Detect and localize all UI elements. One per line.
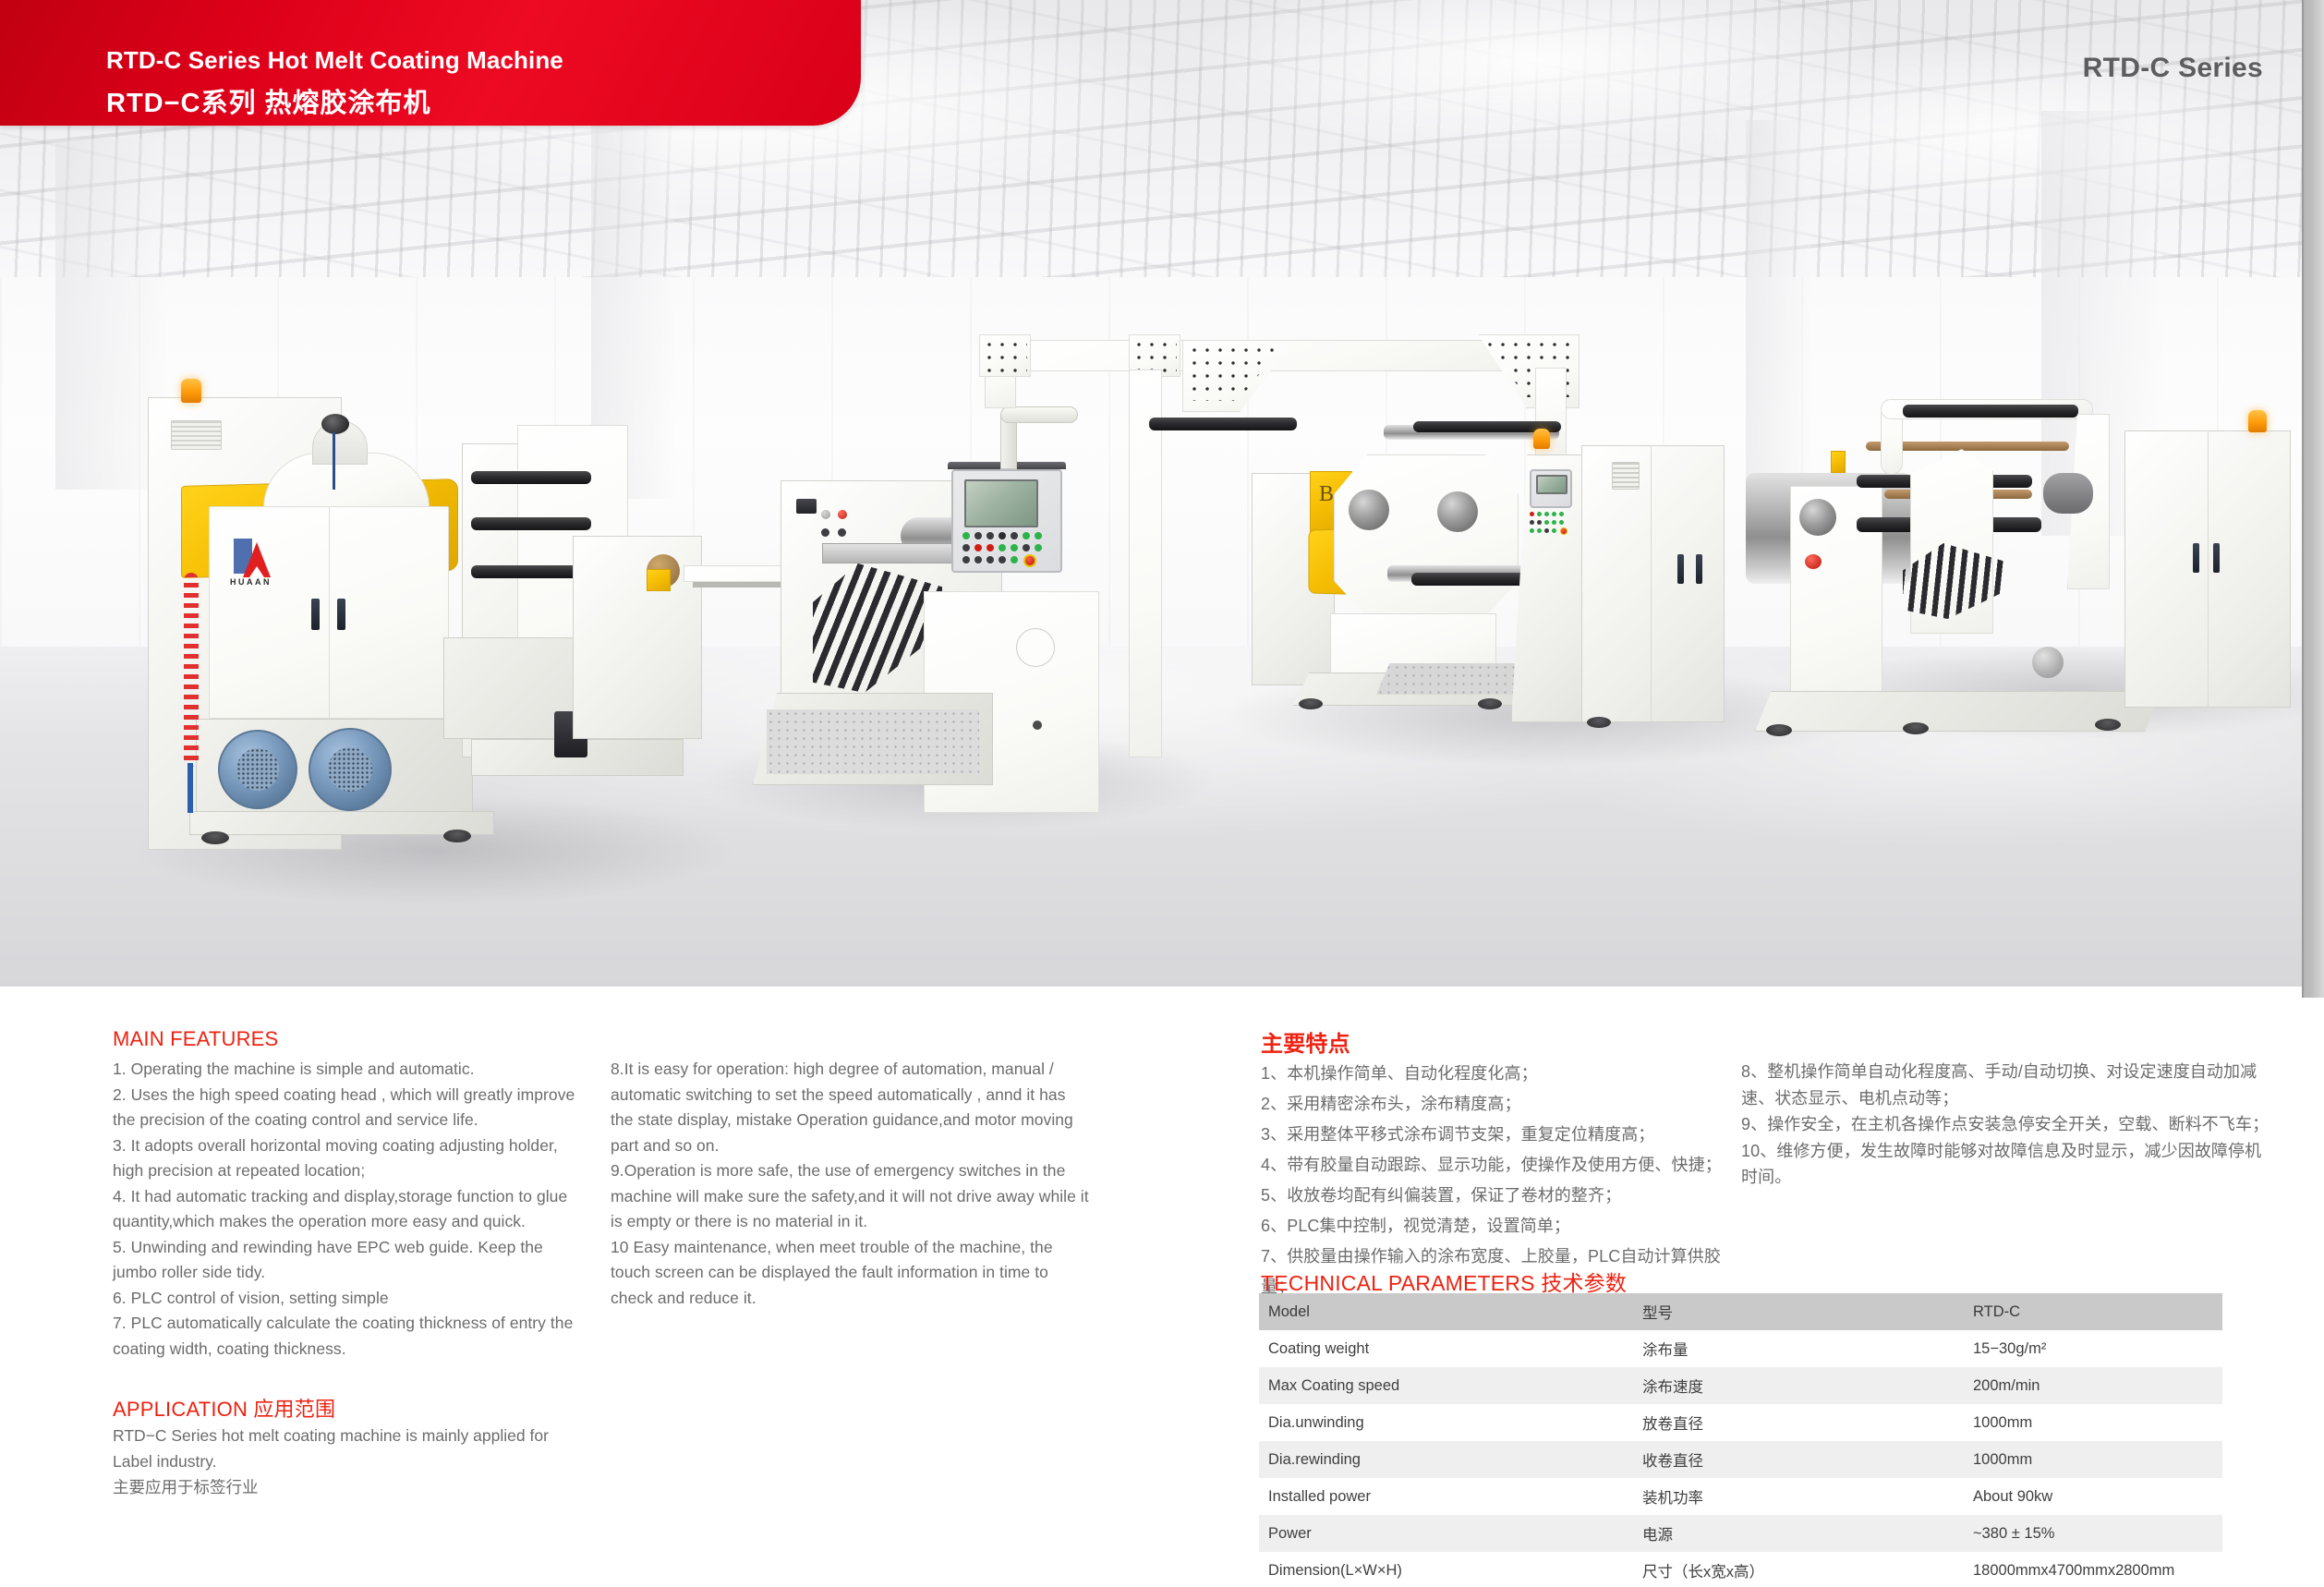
cell-label-cn: 型号 xyxy=(1633,1293,1964,1330)
table-row: Installed power 装机功率 About 90kw xyxy=(1259,1478,2222,1515)
hmi-arm-horizontal xyxy=(1000,406,1078,423)
hmi-control-panel-2 xyxy=(1530,469,1572,508)
unwinder-chuck-2 xyxy=(1437,491,1478,532)
adjust-knob xyxy=(321,414,349,434)
feature-item: 2. Uses the high speed coating head , wh… xyxy=(113,1083,584,1133)
page-edge-shadow xyxy=(2304,0,2324,998)
panel-hole xyxy=(838,528,846,537)
cell-label-en: Power xyxy=(1259,1515,1633,1552)
main-features-cn-heading: 主要特点 xyxy=(1261,1025,1350,1058)
feature-item: 8.It is easy for operation: high degree … xyxy=(611,1057,1091,1158)
leveling-foot xyxy=(1903,722,1929,734)
cell-value: About 90kw xyxy=(1964,1478,2222,1515)
technical-parameters-heading: TECHNICAL PARAMETERS 技术参数 xyxy=(1261,1266,1627,1297)
unwinder-label-b: B xyxy=(1319,482,1334,507)
cell-label-en: Installed power xyxy=(1259,1478,1633,1515)
application-text-cn: 主要应用于标签行业 xyxy=(113,1474,575,1500)
feature-item: 10 Easy maintenance, when meet trouble o… xyxy=(611,1235,1091,1312)
cabinet-handle xyxy=(311,599,320,630)
cabinet-door-split xyxy=(2208,430,2209,708)
feature-item: 1. Operating the machine is simple and a… xyxy=(113,1057,584,1083)
leveling-foot xyxy=(443,830,471,842)
logo-red-arrow xyxy=(243,542,271,577)
table-row: Coating weight 涂布量 15−30g/m² xyxy=(1259,1330,2222,1367)
leveling-foot xyxy=(1478,698,1502,709)
cell-label-en: Dimension(L×W×H) xyxy=(1259,1552,1633,1587)
pneumatic-cylinder xyxy=(2043,473,2093,514)
cell-label-en: Model xyxy=(1259,1293,1633,1330)
main-features-column-2: 8.It is easy for operation: high degree … xyxy=(611,1057,1091,1311)
cell-label-en: Coating weight xyxy=(1259,1330,1633,1367)
hmi-keypad-2[interactable] xyxy=(1530,512,1574,543)
table-row: Dia.unwinding 放卷直径 1000mm xyxy=(1259,1404,2222,1441)
bolt-hole xyxy=(1033,721,1042,730)
cell-label-cn: 装机功率 xyxy=(1633,1478,1964,1515)
unwinder-chuck-1 xyxy=(1349,490,1389,530)
leveling-foot xyxy=(1299,698,1323,709)
table-row: Dimension(L×W×H) 尺寸（长x宽x高） 18000mmx4700m… xyxy=(1259,1552,2222,1587)
application-heading: APPLICATION 应用范围 xyxy=(113,1393,335,1423)
indicator-gauge xyxy=(821,510,830,519)
vent-grille xyxy=(171,420,222,450)
hmi-screen-2[interactable] xyxy=(1536,475,1567,494)
table-row: Dia.rewinding 收卷直径 1000mm xyxy=(1259,1441,2222,1478)
feature-item-cn: 5、收放卷均配有纠偏装置，保证了卷材的整齐； xyxy=(1261,1181,1723,1211)
technical-parameters-table: Model 型号 RTD-C Coating weight 涂布量 15−30g… xyxy=(1259,1293,2222,1587)
switch-box xyxy=(796,499,817,514)
blue-hose xyxy=(188,763,193,813)
feature-item-cn: 8、整机操作简单自动化程度高、手动/自动切换、对设定速度自动加减速、状态显示、电… xyxy=(1741,1059,2272,1111)
gantry-bolt-pattern xyxy=(983,338,1027,375)
cell-value: RTD-C xyxy=(1964,1293,2222,1330)
feature-item-cn: 9、操作安全，在主机各操作点安装急停安全开关，空载、断料不飞车； xyxy=(1741,1111,2272,1138)
transfer-frame xyxy=(573,536,702,739)
access-port xyxy=(1016,628,1055,667)
emergency-stop-button-2[interactable] xyxy=(1560,527,1567,535)
warning-beacon-light-2 xyxy=(1533,429,1550,449)
product-photo: HUAAN xyxy=(0,0,2324,987)
leveling-foot xyxy=(1766,724,1792,736)
feature-item: 7. PLC automatically calculate the coati… xyxy=(113,1311,584,1362)
cell-value: 15−30g/m² xyxy=(1964,1330,2222,1367)
vent-grille xyxy=(1612,462,1640,490)
handwheel[interactable] xyxy=(2032,647,2064,678)
main-control-cabinet xyxy=(1581,445,1725,722)
cabinet-handle xyxy=(1696,554,1702,584)
logo-wordmark: HUAAN xyxy=(230,577,272,587)
tread-plate-texture xyxy=(767,709,979,774)
cabinet-door-split xyxy=(329,506,330,719)
feature-item-cn: 1、本机操作简单、自动化程度化高； xyxy=(1261,1059,1723,1089)
feature-item: 9.Operation is more safe, the use of eme… xyxy=(611,1158,1091,1235)
gantry-roller xyxy=(1149,418,1297,430)
yellow-marker xyxy=(1831,451,1846,473)
leveling-foot xyxy=(201,831,229,844)
unwinder-turret-plate xyxy=(1334,454,1519,621)
feature-item: 5. Unwinding and rewinding have EPC web … xyxy=(113,1235,584,1286)
brochure-page: HUAAN xyxy=(0,0,2324,1587)
feature-item-cn: 4、带有胶量自动跟踪、显示功能，使操作及使用方便、快捷； xyxy=(1261,1150,1723,1181)
cabinet-handle xyxy=(1677,554,1684,584)
page-edge-line xyxy=(2302,0,2304,998)
cell-label-en: Max Coating speed xyxy=(1259,1367,1633,1404)
table-row: Power 电源 ~380 ± 15% xyxy=(1259,1515,2222,1552)
table-row: Max Coating speed 涂布速度 200m/min xyxy=(1259,1367,2222,1404)
hmi-keypad[interactable] xyxy=(962,532,1057,567)
cell-value: 1000mm xyxy=(1964,1441,2222,1478)
feature-item-cn: 3、采用整体平移式涂布调节支架，重复定位精度高； xyxy=(1261,1120,1723,1150)
warning-beacon-light xyxy=(181,379,201,403)
cell-value: 1000mm xyxy=(1964,1404,2222,1441)
banner-title-cn: RTD−C系列 热熔胶涂布机 xyxy=(106,81,431,120)
warning-beacon-light-3 xyxy=(2248,410,2267,432)
dancer-roller xyxy=(1903,405,2078,418)
main-features-column-1: 1. Operating the machine is simple and a… xyxy=(113,1057,584,1362)
cell-label-cn: 涂布量 xyxy=(1633,1330,1964,1367)
cell-value: 18000mmx4700mmx2800mm xyxy=(1964,1552,2222,1587)
cell-label-cn: 电源 xyxy=(1633,1515,1964,1552)
feature-item: 4. It had automatic tracking and display… xyxy=(113,1184,584,1235)
cell-label-en: Dia.unwinding xyxy=(1259,1404,1633,1441)
red-indicator xyxy=(1805,554,1822,569)
rewinder-chuck xyxy=(1799,499,1836,536)
red-coiled-hose xyxy=(184,573,199,767)
emergency-indicator xyxy=(838,510,847,519)
banner-title-en: RTD-C Series Hot Melt Coating Machine xyxy=(106,46,563,75)
cabinet-handle xyxy=(2213,543,2220,573)
motor-1-fan-cover xyxy=(236,748,279,791)
feature-item-cn: 10、维修方便，发生故障时能够对故障信息及时显示，减少因故障停机时间。 xyxy=(1741,1138,2272,1191)
guide-roller xyxy=(471,471,591,484)
hmi-control-panel xyxy=(951,469,1062,573)
main-features-cn-column-2: 8、整机操作简单自动化程度高、手动/自动切换、对设定速度自动加减速、状态显示、电… xyxy=(1741,1059,2272,1191)
wall-column xyxy=(1746,120,1810,517)
series-tag: RTD-C Series xyxy=(2083,53,2263,84)
feature-item: 6. PLC control of vision, setting simple xyxy=(113,1286,584,1312)
feature-item-cn: 2、采用精密涂布头，涂布精度高； xyxy=(1261,1089,1723,1120)
guide-roller xyxy=(471,517,591,530)
cell-label-cn: 尺寸（长x宽x高） xyxy=(1633,1552,1964,1587)
main-features-heading: MAIN FEATURES xyxy=(113,1027,278,1051)
table-row: Model 型号 RTD-C xyxy=(1259,1293,2222,1330)
panel-hole xyxy=(821,528,829,537)
title-banner: RTD-C Series Hot Melt Coating Machine RT… xyxy=(0,0,861,126)
cell-label-cn: 涂布速度 xyxy=(1633,1367,1964,1404)
application-body: RTD−C Series hot melt coating machine is… xyxy=(113,1423,575,1500)
cabinet-handle xyxy=(2193,543,2199,573)
cell-value: 200m/min xyxy=(1964,1367,2222,1404)
yellow-marker xyxy=(647,569,671,591)
leveling-foot xyxy=(2095,719,2121,731)
cabinet-handle xyxy=(337,599,345,630)
cabinet-door-split xyxy=(1651,445,1652,722)
cell-label-en: Dia.rewinding xyxy=(1259,1441,1633,1478)
cell-label-cn: 放卷直径 xyxy=(1633,1404,1964,1441)
leveling-foot xyxy=(1587,717,1611,728)
blue-cable xyxy=(333,432,335,490)
emergency-stop-button[interactable] xyxy=(1023,554,1036,567)
feature-item: 3. It adopts overall horizontal moving c… xyxy=(113,1133,584,1184)
application-text-en: RTD−C Series hot melt coating machine is… xyxy=(113,1423,575,1474)
hmi-screen[interactable] xyxy=(964,479,1038,527)
motor-2-fan-cover xyxy=(328,747,372,792)
cell-label-cn: 收卷直径 xyxy=(1633,1441,1964,1478)
table-body: Model 型号 RTD-C Coating weight 涂布量 15−30g… xyxy=(1259,1293,2222,1587)
feature-item-cn: 6、PLC集中控制，视觉清楚，设置简单； xyxy=(1261,1211,1723,1242)
cell-value: ~380 ± 15% xyxy=(1964,1515,2222,1552)
